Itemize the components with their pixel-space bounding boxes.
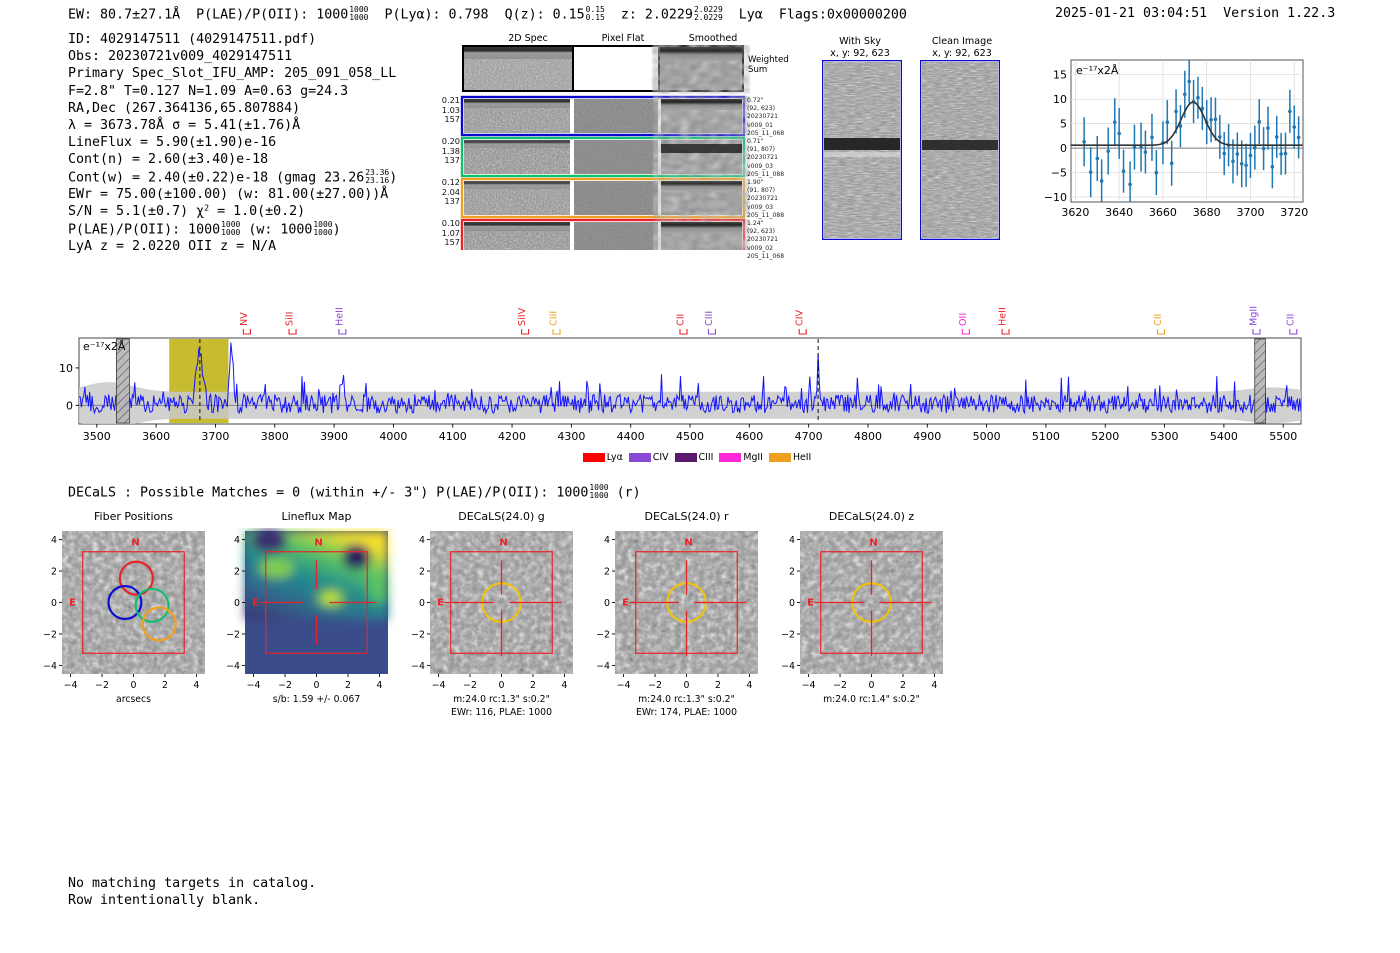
- weighted-sum-label: Weighted Sum: [748, 55, 789, 75]
- row-meta-3: 1.90" (91, 807) 20230721 v009_03 205_11_…: [747, 179, 784, 220]
- svg-text:3620: 3620: [1061, 206, 1089, 219]
- svg-text:−2: −2: [833, 680, 847, 691]
- header-summary-line: EW: 80.7±27.1Å P(LAE)/P(OII): 1000100010…: [68, 6, 907, 23]
- plae-value: 1000: [316, 7, 348, 22]
- row1-m5: 205_11_068: [747, 130, 784, 138]
- svg-text:4100: 4100: [439, 430, 467, 443]
- info-lambda: λ = 3673.78Å σ = 5.41(±1.76)Å: [68, 117, 397, 134]
- svg-text:4800: 4800: [854, 430, 882, 443]
- timestamp: 2025-01-21 03:04:51: [1055, 6, 1207, 21]
- svg-text:−4: −4: [432, 680, 446, 691]
- clean-image: [920, 60, 1000, 240]
- svg-text:3600: 3600: [142, 430, 170, 443]
- decals-header-text: DECaLS : Possible Matches = 0 (within +/…: [68, 485, 588, 500]
- svg-text:15: 15: [1053, 69, 1067, 82]
- z-value: 2.0229: [645, 7, 693, 22]
- svg-text:0: 0: [684, 680, 690, 691]
- svg-text:4000: 4000: [379, 430, 407, 443]
- strip-row-1: [462, 97, 744, 135]
- cutout-panel-image-3[interactable]: NE−4−2024420−2−4: [581, 528, 770, 705]
- info-sn-post: = 1.0(±0.2): [209, 204, 305, 219]
- row4-m3: 20230721: [747, 236, 784, 244]
- footer-note: No matching targets in catalog. Row inte…: [68, 875, 316, 910]
- svg-text:5: 5: [1060, 118, 1067, 131]
- cutout-title-2: DECaLS(24.0) g: [400, 510, 603, 523]
- legend-swatch-mgii: [719, 453, 741, 462]
- row1-n3: 157: [432, 115, 460, 125]
- svg-text:5000: 5000: [973, 430, 1001, 443]
- z-line-name: Lyα: [739, 7, 763, 22]
- svg-text:−2: −2: [781, 629, 795, 640]
- svg-text:4300: 4300: [557, 430, 585, 443]
- row2-m2: (91, 807): [747, 146, 784, 154]
- decals-header-post: (r): [617, 485, 641, 500]
- svg-text:0: 0: [314, 680, 320, 691]
- svg-text:5500: 5500: [1269, 430, 1297, 443]
- footer-line-2: Row intentionally blank.: [68, 892, 316, 909]
- cutout-caption-line2-3: EWr: 174, PLAE: 1000: [575, 707, 798, 720]
- legend-label-ciii: CIII: [699, 452, 714, 463]
- north-label: N: [131, 537, 139, 548]
- legend-label-heii: HeII: [793, 452, 811, 463]
- row4-n3: 157: [432, 238, 460, 248]
- legend-swatch-heii: [769, 453, 791, 462]
- svg-text:4600: 4600: [735, 430, 763, 443]
- weighted-sum-line1: Weighted: [748, 55, 789, 65]
- info-redshift: LyA z = 2.0220 OII z = N/A: [68, 238, 397, 255]
- svg-text:−2: −2: [463, 680, 477, 691]
- svg-text:2: 2: [162, 680, 168, 691]
- cutout-caption-4: m:24.0 rc:1.4" s:0.2": [760, 694, 983, 707]
- east-label: E: [437, 598, 444, 609]
- info-plae-pre: P(LAE)/P(OII): 1000: [68, 222, 220, 237]
- emission-line-fit-plot: 362036403660368037003720−10−5051015e⁻¹⁷x…: [1037, 52, 1309, 234]
- row3-m1: 1.90": [747, 179, 784, 187]
- svg-text:10: 10: [60, 362, 73, 375]
- svg-text:−2: −2: [648, 680, 662, 691]
- ew-value: 80.7±27.1Å: [100, 7, 180, 22]
- qz-value: 0.15: [553, 7, 585, 22]
- svg-text:0: 0: [1060, 142, 1067, 155]
- legend-label-lyα: Lyα: [607, 452, 623, 463]
- svg-text:−2: −2: [226, 629, 240, 640]
- svg-text:2: 2: [419, 566, 425, 577]
- decals-header: DECaLS : Possible Matches = 0 (within +/…: [68, 484, 641, 501]
- svg-text:0: 0: [604, 598, 610, 609]
- row4-m1: 1.24": [747, 220, 784, 228]
- row3-m4: v009_03: [747, 204, 784, 212]
- north-label: N: [869, 537, 877, 548]
- header-timestamp-version: 2025-01-21 03:04:51 Version 1.22.3: [1055, 6, 1335, 21]
- svg-text:4: 4: [234, 535, 240, 546]
- strip-row-4: [462, 220, 744, 250]
- svg-text:0: 0: [66, 399, 73, 412]
- row3-n3: 137: [432, 197, 460, 207]
- qz-label: Q(z):: [505, 7, 545, 22]
- with-sky-image: [822, 60, 902, 240]
- svg-text:−10: −10: [1044, 191, 1067, 204]
- row-stats-4: 0.10 1.07 157: [432, 219, 460, 248]
- svg-text:4500: 4500: [676, 430, 704, 443]
- weighted-sum-line2: Sum: [748, 65, 789, 75]
- svg-text:2: 2: [715, 680, 721, 691]
- svg-text:5400: 5400: [1210, 430, 1238, 443]
- svg-text:0: 0: [419, 598, 425, 609]
- detection-info-block: ID: 4029147511 (4029147511.pdf) Obs: 202…: [68, 31, 397, 255]
- info-plae: P(LAE)/P(OII): 100010001000 (w: 10001000…: [68, 221, 397, 239]
- svg-text:4400: 4400: [617, 430, 645, 443]
- info-seeing: F=2.8" T=0.127 N=1.09 A=0.63 g=24.3: [68, 83, 397, 100]
- svg-text:4: 4: [51, 535, 57, 546]
- north-label: N: [684, 537, 692, 548]
- svg-text:5100: 5100: [1032, 430, 1060, 443]
- info-cont-w-text: Cont(w) = 2.40(±0.22)e-18 (gmag 23.26: [68, 170, 364, 185]
- east-label: E: [69, 598, 76, 609]
- svg-text:0: 0: [51, 598, 57, 609]
- svg-text:CII: CII: [676, 314, 687, 326]
- row3-m5: 205_11_088: [747, 212, 784, 220]
- plae-lo: 1000: [349, 14, 368, 22]
- svg-text:4: 4: [561, 680, 567, 691]
- svg-text:CIII: CIII: [704, 311, 715, 326]
- svg-text:4: 4: [604, 535, 610, 546]
- svg-text:OII: OII: [958, 313, 969, 326]
- qz-lo: 0.15: [586, 14, 605, 22]
- east-label: E: [252, 598, 259, 609]
- svg-text:3660: 3660: [1149, 206, 1177, 219]
- strip-row-summed: [462, 45, 744, 92]
- info-slot: Primary Spec_Slot_IFU_AMP: 205_091_058_L…: [68, 65, 397, 82]
- svg-text:4: 4: [193, 680, 199, 691]
- row-meta-1: 0.72" (92, 623) 20230721 v009_01 205_11_…: [747, 97, 784, 138]
- svg-text:−4: −4: [43, 661, 57, 672]
- svg-text:2: 2: [789, 566, 795, 577]
- with-sky-title: With Sky: [815, 36, 905, 48]
- row3-m3: 20230721: [747, 195, 784, 203]
- info-obs: Obs: 20230721v009_4029147511: [68, 48, 397, 65]
- svg-text:HeII: HeII: [998, 307, 1009, 326]
- svg-text:0: 0: [789, 598, 795, 609]
- svg-text:NV: NV: [239, 312, 250, 326]
- cutout-title-3: DECaLS(24.0) r: [585, 510, 788, 523]
- row2-n3: 137: [432, 156, 460, 166]
- svg-text:0: 0: [131, 680, 137, 691]
- svg-text:3640: 3640: [1105, 206, 1133, 219]
- row1-m3: 20230721: [747, 113, 784, 121]
- svg-text:SiII: SiII: [285, 312, 296, 326]
- version-label: Version 1.22.3: [1223, 6, 1335, 21]
- info-plae-post: ): [333, 222, 341, 237]
- svg-text:4: 4: [789, 535, 795, 546]
- plae-label: P(LAE)/P(OII):: [196, 7, 308, 22]
- svg-text:−4: −4: [617, 680, 631, 691]
- legend-label-civ: CIV: [653, 452, 669, 463]
- info-radec: RA,Dec (267.364136,65.807884): [68, 100, 397, 117]
- with-sky-subtitle: x, y: 92, 623: [815, 48, 905, 60]
- svg-text:SiIV: SiIV: [517, 307, 528, 326]
- svg-text:5300: 5300: [1151, 430, 1179, 443]
- svg-text:2: 2: [900, 680, 906, 691]
- svg-text:CII: CII: [1285, 314, 1296, 326]
- svg-text:0: 0: [234, 598, 240, 609]
- row4-m2: (92, 623): [747, 228, 784, 236]
- svg-text:e⁻¹⁷x2Å: e⁻¹⁷x2Å: [1076, 64, 1119, 77]
- cutout-title-4: DECaLS(24.0) z: [770, 510, 973, 523]
- cutout-panel-image-4[interactable]: NE−4−2024420−2−4: [766, 528, 955, 705]
- east-label: E: [622, 598, 629, 609]
- svg-text:3720: 3720: [1280, 206, 1308, 219]
- svg-text:5200: 5200: [1091, 430, 1119, 443]
- svg-text:3800: 3800: [261, 430, 289, 443]
- svg-text:2: 2: [345, 680, 351, 691]
- legend-swatch-ciii: [675, 453, 697, 462]
- svg-text:0: 0: [869, 680, 875, 691]
- svg-text:−4: −4: [64, 680, 78, 691]
- info-sn: S/N = 5.1(±0.7) χ2 = 1.0(±0.2): [68, 203, 397, 220]
- svg-text:4: 4: [746, 680, 752, 691]
- svg-text:−2: −2: [596, 629, 610, 640]
- row4-m5: 205_11_068: [747, 253, 784, 261]
- plya-value: 0.798: [449, 7, 489, 22]
- svg-text:−2: −2: [43, 629, 57, 640]
- svg-text:−4: −4: [411, 661, 425, 672]
- info-plae-lo: 1000: [221, 229, 240, 237]
- info-ewr: EWr = 75.00(±100.00) (w: 81.00(±27.00))Å: [68, 186, 397, 203]
- svg-text:−4: −4: [596, 661, 610, 672]
- svg-text:10: 10: [1053, 93, 1067, 106]
- info-cont-w-lo: 23.16: [365, 177, 389, 185]
- svg-text:e⁻¹⁷x2Å: e⁻¹⁷x2Å: [83, 340, 126, 353]
- with-sky-header: With Sky x, y: 92, 623: [815, 36, 905, 60]
- svg-text:2: 2: [234, 566, 240, 577]
- full-spectrum-plot: 3500360037003800390040004100420043004400…: [60, 300, 1340, 450]
- svg-text:4700: 4700: [795, 430, 823, 443]
- row1-m2: (92, 623): [747, 105, 784, 113]
- flags-label: Flags:0x00000200: [779, 7, 907, 22]
- strip-row-2: [462, 138, 744, 176]
- cutout-title-1: Lineflux Map: [215, 510, 418, 523]
- svg-text:3700: 3700: [201, 430, 229, 443]
- cutout-panel-image-2[interactable]: NE−4−2024420−2−4: [396, 528, 585, 705]
- info-cont-w: Cont(w) = 2.40(±0.22)e-18 (gmag 23.2623.…: [68, 169, 397, 187]
- row4-m4: v009_02: [747, 245, 784, 253]
- decals-header-lo: 1000: [589, 492, 608, 500]
- svg-text:2: 2: [51, 566, 57, 577]
- svg-text:3700: 3700: [1236, 206, 1264, 219]
- spectrum-legend: LyαCIVCIIIMgIIHeII: [0, 452, 1400, 463]
- plya-label: P(Lyα):: [384, 7, 440, 22]
- svg-text:−2: −2: [411, 629, 425, 640]
- z-label: z:: [621, 7, 637, 22]
- svg-text:4200: 4200: [498, 430, 526, 443]
- row-stats-3: 0.12 2.04 137: [432, 178, 460, 207]
- row3-m2: (91, 807): [747, 187, 784, 195]
- svg-text:−5: −5: [1051, 167, 1067, 180]
- row2-m1: 0.71": [747, 138, 784, 146]
- svg-text:CIII: CIII: [549, 311, 560, 326]
- info-sn-pre: S/N = 5.1(±0.7) χ: [68, 204, 204, 219]
- svg-text:−4: −4: [226, 661, 240, 672]
- info-cont-n: Cont(n) = 2.60(±3.40)e-18: [68, 151, 397, 168]
- clean-image-header: Clean Image x, y: 92, 623: [912, 36, 1012, 60]
- strip-row-3: [462, 179, 744, 217]
- svg-text:HeII: HeII: [334, 307, 345, 326]
- info-id: ID: 4029147511 (4029147511.pdf): [68, 31, 397, 48]
- col-header-2d-spec: 2D Spec: [478, 33, 578, 44]
- svg-text:3900: 3900: [320, 430, 348, 443]
- svg-text:−2: −2: [95, 680, 109, 691]
- svg-text:−4: −4: [802, 680, 816, 691]
- svg-text:2: 2: [530, 680, 536, 691]
- svg-text:4900: 4900: [913, 430, 941, 443]
- info-lineflux: LineFlux = 5.90(±1.90)e-16: [68, 134, 397, 151]
- svg-text:CIV: CIV: [795, 309, 806, 326]
- row1-m1: 0.72": [747, 97, 784, 105]
- svg-text:−2: −2: [278, 680, 292, 691]
- svg-text:−4: −4: [781, 661, 795, 672]
- legend-label-mgii: MgII: [743, 452, 763, 463]
- row2-m3: 20230721: [747, 154, 784, 162]
- cutout-panel-lineflux-1[interactable]: NE−4−2024420−2−4: [211, 528, 400, 705]
- footer-line-1: No matching targets in catalog.: [68, 875, 316, 892]
- row-meta-2: 0.71" (91, 807) 20230721 v009_03 205_11_…: [747, 138, 784, 179]
- svg-text:0: 0: [499, 680, 505, 691]
- info-cont-w-post: ): [389, 170, 397, 185]
- cutout-title-0: Fiber Positions: [32, 510, 235, 523]
- row-stats-2: 0.20 1.38 137: [432, 137, 460, 166]
- svg-text:3680: 3680: [1193, 206, 1221, 219]
- svg-text:4: 4: [419, 535, 425, 546]
- row-stats-1: 0.21 1.03 157: [432, 96, 460, 125]
- svg-text:MgII: MgII: [1249, 306, 1260, 326]
- z-lo: 2.0229: [694, 14, 723, 22]
- info-plae-w-lo: 1000: [313, 229, 332, 237]
- row2-m5: 205_11_088: [747, 171, 784, 179]
- col-header-pixel-flat: Pixel Flat: [578, 33, 668, 44]
- east-label: E: [807, 598, 814, 609]
- clean-image-title: Clean Image: [912, 36, 1012, 48]
- info-plae-mid: (w: 1000: [240, 222, 312, 237]
- svg-text:−4: −4: [247, 680, 261, 691]
- clean-image-subtitle: x, y: 92, 623: [912, 48, 1012, 60]
- north-label: N: [499, 537, 507, 548]
- row1-m4: v009_01: [747, 122, 784, 130]
- col-header-smoothed: Smoothed: [668, 33, 758, 44]
- ew-label: EW:: [68, 7, 92, 22]
- legend-swatch-civ: [629, 453, 651, 462]
- svg-text:CII: CII: [1153, 314, 1164, 326]
- cutout-panel-fibers-0[interactable]: NE−4−2024420−2−4: [28, 528, 217, 705]
- svg-text:3500: 3500: [83, 430, 111, 443]
- legend-swatch-lyα: [583, 453, 605, 462]
- svg-text:2: 2: [604, 566, 610, 577]
- svg-text:4: 4: [931, 680, 937, 691]
- cutout-caption-line1-4: m:24.0 rc:1.4" s:0.2": [760, 694, 983, 707]
- row-meta-4: 1.24" (92, 623) 20230721 v009_02 205_11_…: [747, 220, 784, 261]
- row2-m4: v009_03: [747, 163, 784, 171]
- north-label: N: [314, 537, 322, 548]
- svg-text:4: 4: [376, 680, 382, 691]
